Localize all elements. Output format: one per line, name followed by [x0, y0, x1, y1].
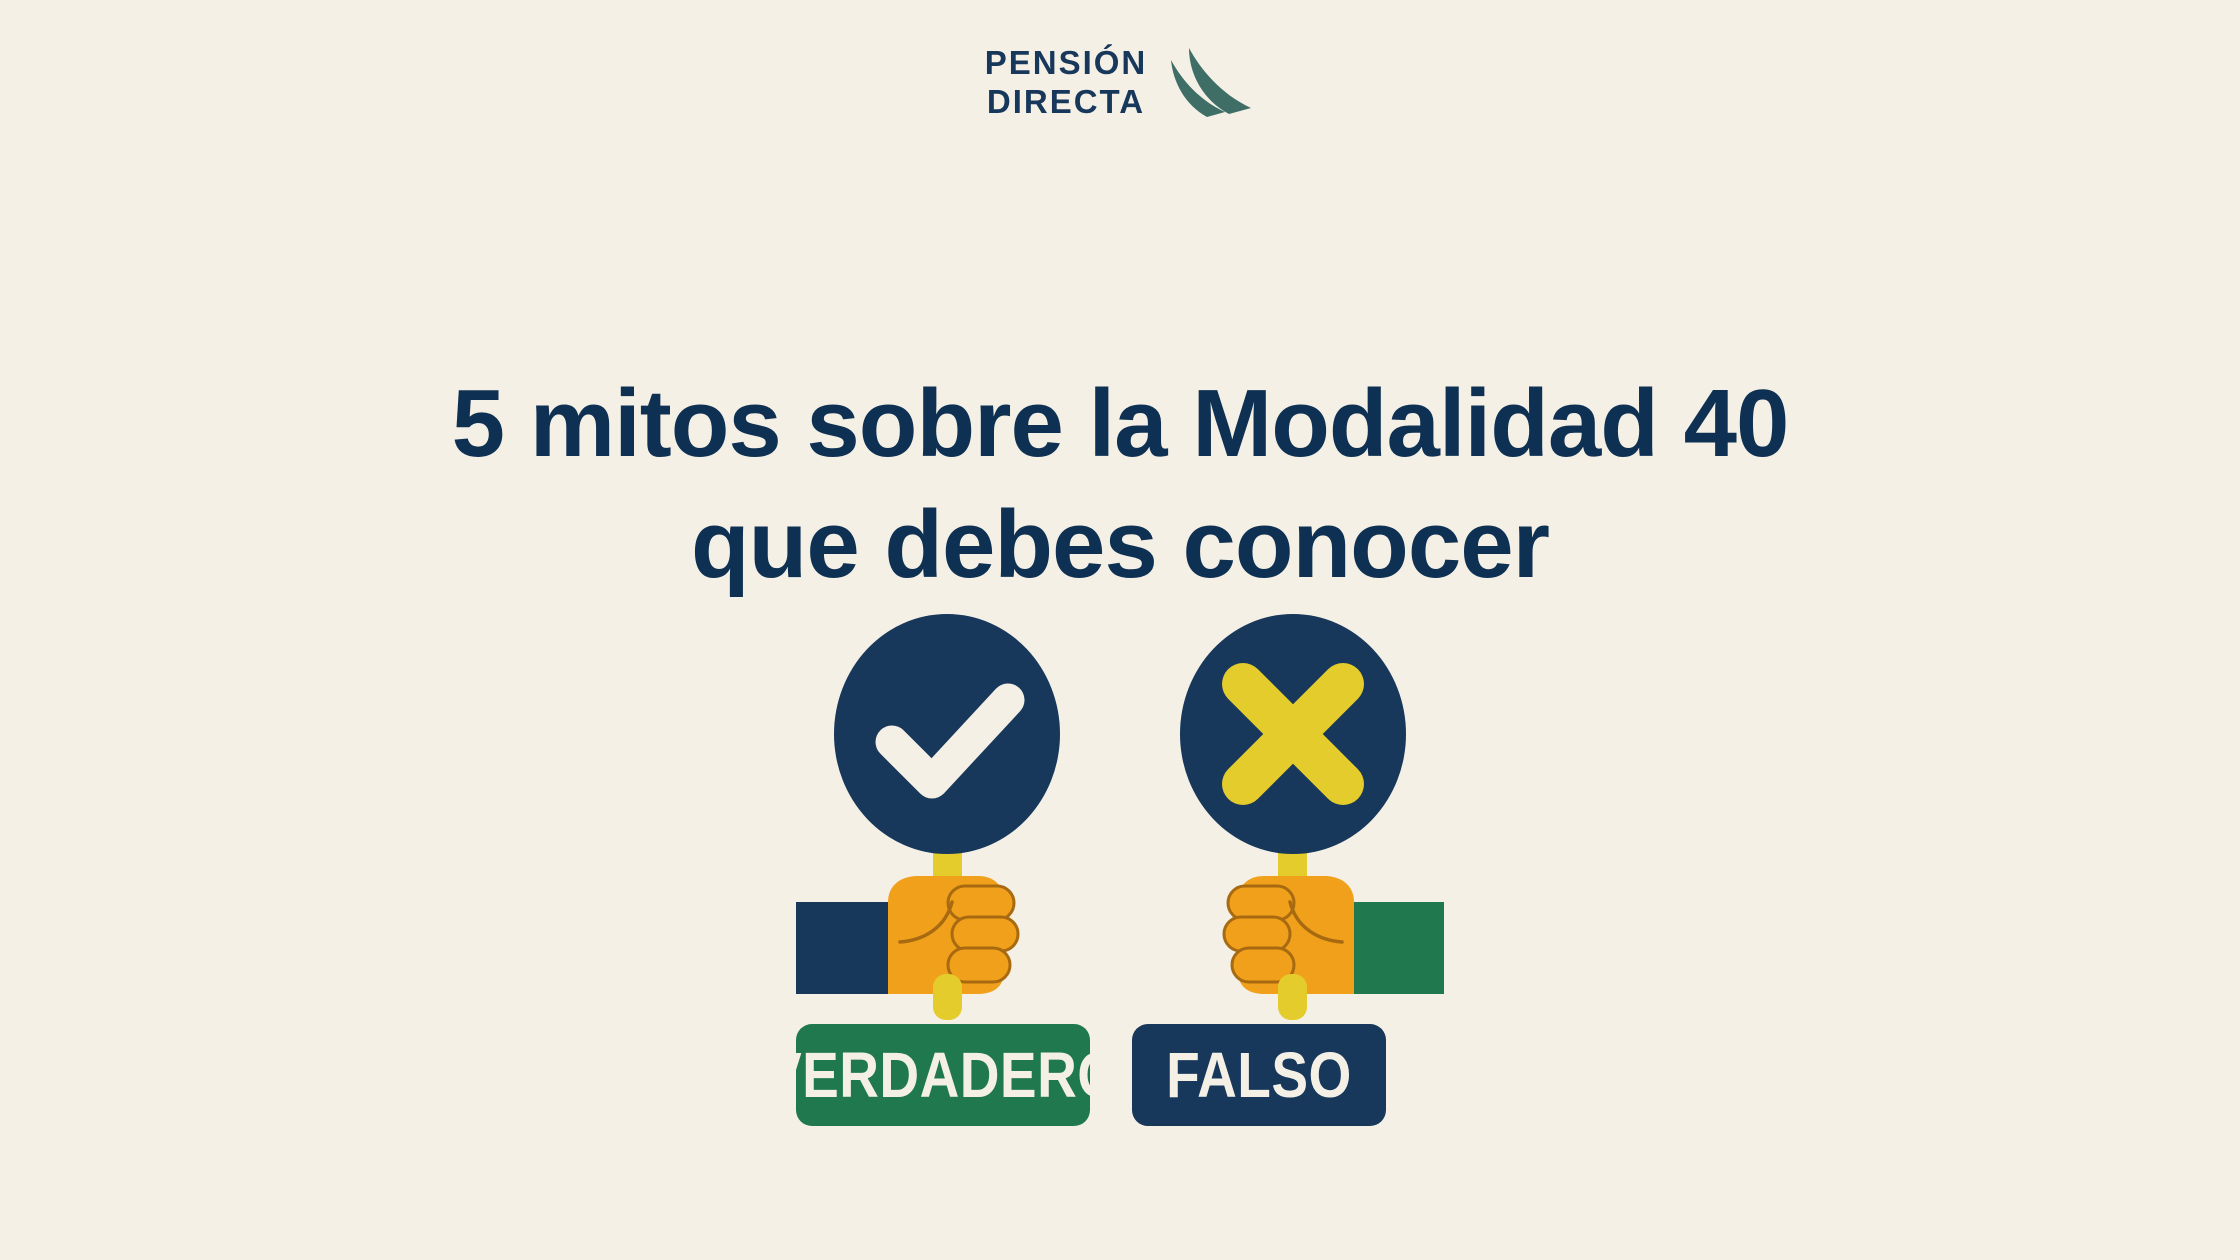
- false-hand-sleeve: [1352, 902, 1444, 994]
- true-paddle-disc: [834, 614, 1060, 854]
- falso-label-text: FALSO: [1166, 1038, 1352, 1112]
- page-title-line-1: 5 mitos sobre la Modalidad 40: [0, 364, 2240, 485]
- false-hand-fingers: [1224, 886, 1294, 982]
- page-title-line-2: que debes conocer: [0, 485, 2240, 606]
- brand-wordmark: PENSIÓN DIRECTA: [985, 44, 1148, 122]
- brand-line-2: DIRECTA: [987, 83, 1145, 122]
- verdict-label-row: VERDADERO FALSO: [796, 1024, 1444, 1134]
- false-paddle-handle-bottom: [1278, 974, 1307, 1020]
- true-hand-fingers: [948, 886, 1018, 982]
- brand-logo[interactable]: PENSIÓN DIRECTA: [0, 34, 2240, 131]
- verdadero-label-chip: VERDADERO: [796, 1024, 1090, 1126]
- verdadero-label-text: VERDADERO: [765, 1038, 1121, 1112]
- true-paddle-group: [796, 614, 1060, 1020]
- true-paddle-handle-bottom: [933, 974, 962, 1020]
- brand-line-1: PENSIÓN: [985, 44, 1148, 83]
- true-hand-sleeve: [796, 902, 890, 994]
- falso-label-chip: FALSO: [1132, 1024, 1386, 1126]
- double-chevron-swoosh-icon: [1163, 36, 1255, 131]
- false-paddle-group: [1180, 614, 1444, 1020]
- page-title: 5 mitos sobre la Modalidad 40 que debes …: [0, 364, 2240, 606]
